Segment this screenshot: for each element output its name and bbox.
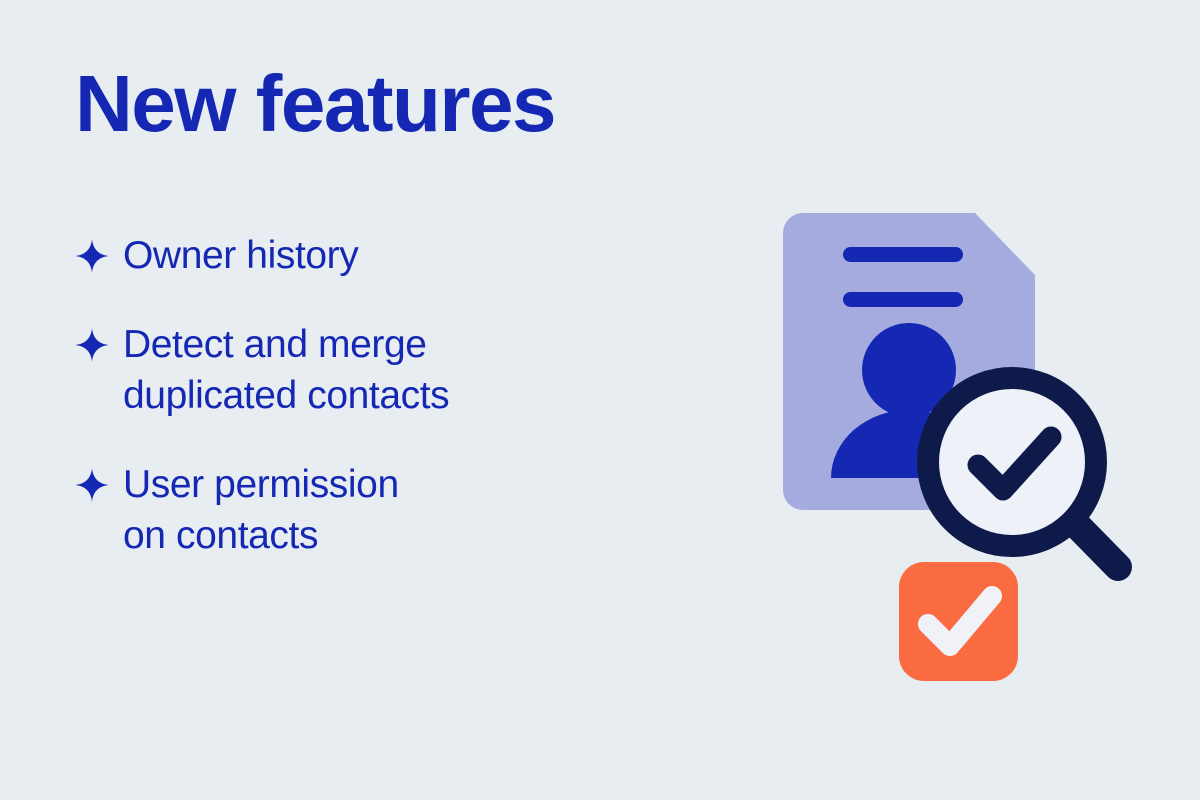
slide-canvas: New features Owner history Detect and me… xyxy=(0,0,1200,800)
feature-label: User permission on contacts xyxy=(123,459,399,561)
sparkle-icon xyxy=(75,468,109,502)
left-content-column: New features Owner history Detect and me… xyxy=(75,58,695,150)
text-line-2 xyxy=(843,292,963,307)
feature-label: Owner history xyxy=(123,230,358,281)
list-item: Owner history xyxy=(75,230,695,281)
list-item: Detect and merge duplicated contacts xyxy=(75,319,695,421)
text-line-1 xyxy=(843,247,963,262)
magnifier-search-icon xyxy=(928,378,1118,567)
sparkle-icon xyxy=(75,239,109,273)
contact-card-search-illustration xyxy=(740,185,1160,705)
list-item: User permission on contacts xyxy=(75,459,695,561)
feature-list: Owner history Detect and merge duplicate… xyxy=(75,230,695,599)
orange-checkbox-icon xyxy=(899,562,1018,681)
feature-label: Detect and merge duplicated contacts xyxy=(123,319,449,421)
sparkle-icon xyxy=(75,328,109,362)
page-title: New features xyxy=(75,58,695,150)
